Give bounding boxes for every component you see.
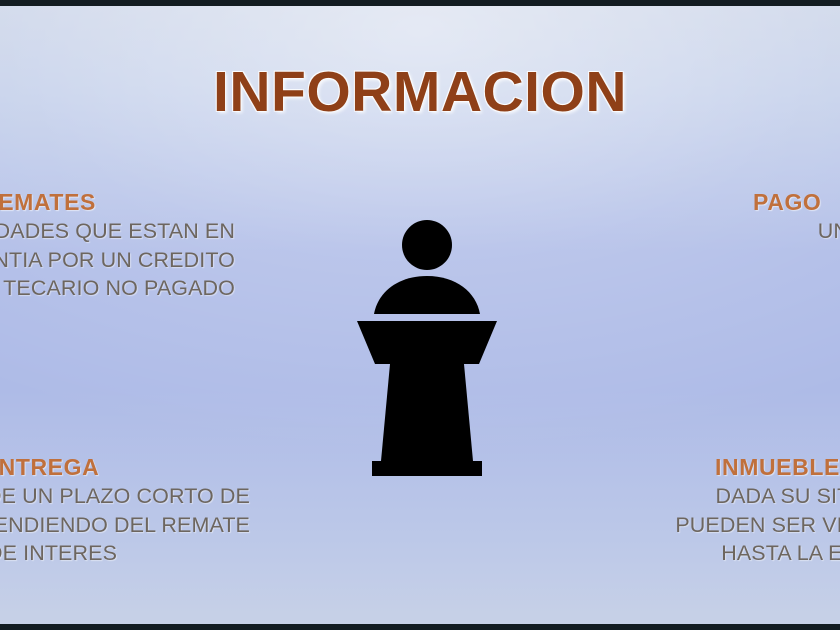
text-block-pago: PAGO UNICAMENTE CON [585, 188, 840, 246]
page-title: INFORMACION [0, 59, 840, 125]
presentation-slide: INFORMACION REMATES [0, 0, 840, 630]
block-line: NTIA POR UN CREDITO [0, 246, 235, 275]
block-line: DADA SU SITUACION [555, 482, 840, 511]
block-line: DE INTERES [0, 539, 250, 568]
text-block-entrega: ENTREGA DE UN PLAZO CORTO DE EPENDIENDO … [0, 453, 250, 568]
podium-speaker-glyph [342, 218, 512, 480]
block-line: HASTA LA ESCRITUR [555, 539, 840, 568]
letterbox-band-bottom [0, 624, 840, 630]
block-line: TECARIO NO PAGADO [0, 274, 235, 303]
block-line: PUEDEN SER VISTOS PO [555, 511, 840, 540]
block-line: PIEDADES QUE ESTAN EN [0, 217, 235, 246]
text-block-inmuebles: INMUEBLE DADA SU SITUACION PUEDEN SER VI… [555, 453, 840, 568]
block-line: UNICAMENTE CON [585, 217, 840, 246]
block-line: DE UN PLAZO CORTO DE [0, 482, 250, 511]
block-heading-pago: PAGO [585, 188, 840, 217]
letterbox-band-top [0, 0, 840, 6]
block-heading-remates: REMATES [0, 188, 235, 217]
block-heading-inmuebles: INMUEBLE [555, 453, 840, 482]
podium-speaker-icon [342, 218, 512, 480]
block-line: EPENDIENDO DEL REMATE [0, 511, 250, 540]
text-block-remates: REMATES PIEDADES QUE ESTAN EN NTIA POR U… [0, 188, 235, 303]
block-heading-entrega: ENTREGA [0, 453, 250, 482]
slide-canvas: INFORMACION REMATES [0, 6, 840, 624]
